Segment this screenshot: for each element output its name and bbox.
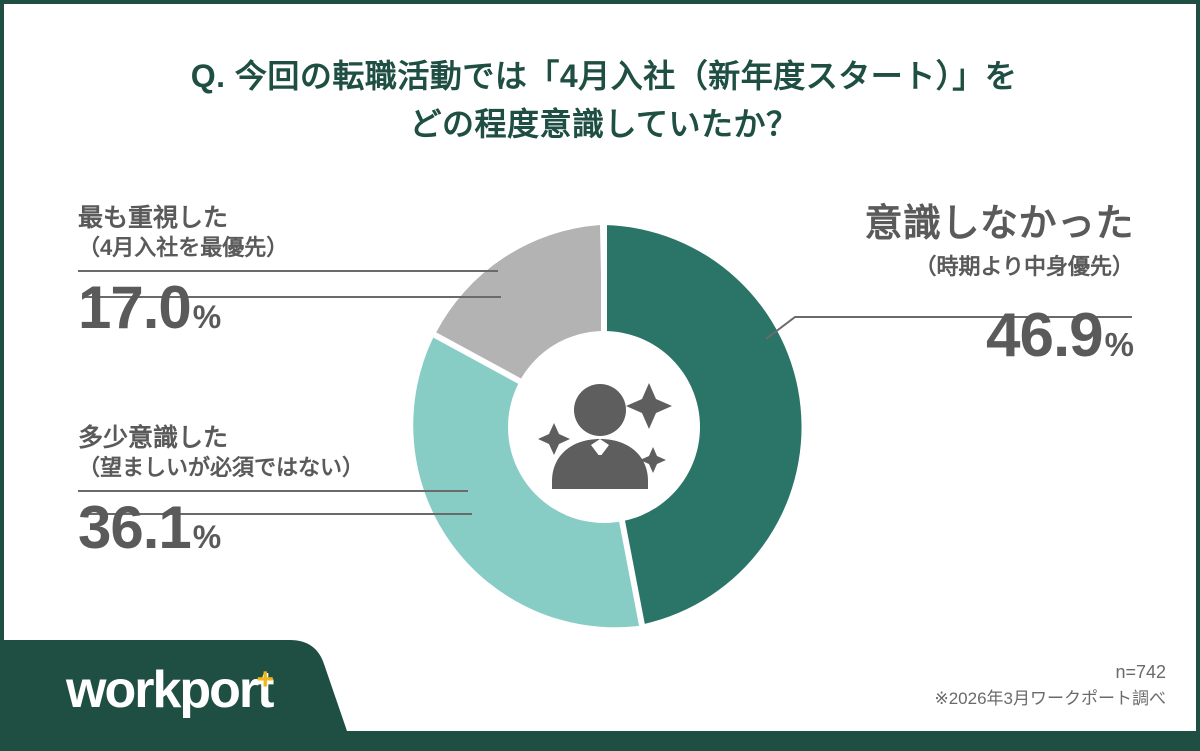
- infographic-poster: Q. 今回の転職活動では「4月入社（新年度スタート）」を どの程度意識していたか…: [0, 0, 1200, 751]
- callout-primary-sub: （時期より中身優先）: [816, 253, 1134, 282]
- callout-tertiary-rule: [78, 270, 498, 272]
- title-line-1: Q. 今回の転職活動では「4月入社（新年度スタート）」を: [4, 52, 1200, 100]
- callout-secondary-value: 36.1%: [78, 498, 468, 558]
- callout-tertiary-symbol: %: [193, 299, 221, 335]
- callout-primary-number: 46.9: [986, 301, 1103, 370]
- source-credit: ※2026年3月ワークポート調べ: [934, 686, 1166, 712]
- sample-size: n=742: [934, 659, 1166, 686]
- callout-tertiary-number: 17.0: [78, 274, 191, 341]
- callout-primary-symbol: %: [1105, 326, 1134, 363]
- callout-secondary-number: 36.1: [78, 494, 191, 561]
- logo-plus-icon: +: [256, 663, 274, 696]
- callout-secondary-rule: [78, 490, 468, 492]
- logo-text: workpor: [66, 661, 257, 719]
- title-line-2: どの程度意識していたか？: [4, 100, 1200, 148]
- callout-secondary: 多少意識した （望ましいが必須ではない） 36.1%: [78, 422, 468, 558]
- footnotes: n=742 ※2026年3月ワークポート調べ: [934, 659, 1166, 712]
- callout-secondary-sub: （望ましいが必須ではない）: [78, 454, 468, 483]
- callout-primary: 意識しなかった （時期より中身優先） 46.9%: [816, 200, 1134, 367]
- callout-tertiary-name: 最も重視した: [78, 202, 498, 234]
- callout-tertiary-sub: （4月入社を最優先）: [78, 234, 498, 263]
- callout-primary-name: 意識しなかった: [816, 200, 1134, 249]
- callout-secondary-symbol: %: [193, 519, 221, 555]
- page-title: Q. 今回の転職活動では「4月入社（新年度スタート）」を どの程度意識していたか…: [4, 52, 1200, 148]
- callout-tertiary: 最も重視した （4月入社を最優先） 17.0%: [78, 202, 498, 338]
- workport-logo: workport+: [66, 664, 274, 716]
- callout-tertiary-value: 17.0%: [78, 278, 498, 338]
- callout-secondary-name: 多少意識した: [78, 422, 468, 454]
- callout-primary-value: 46.9%: [816, 305, 1134, 367]
